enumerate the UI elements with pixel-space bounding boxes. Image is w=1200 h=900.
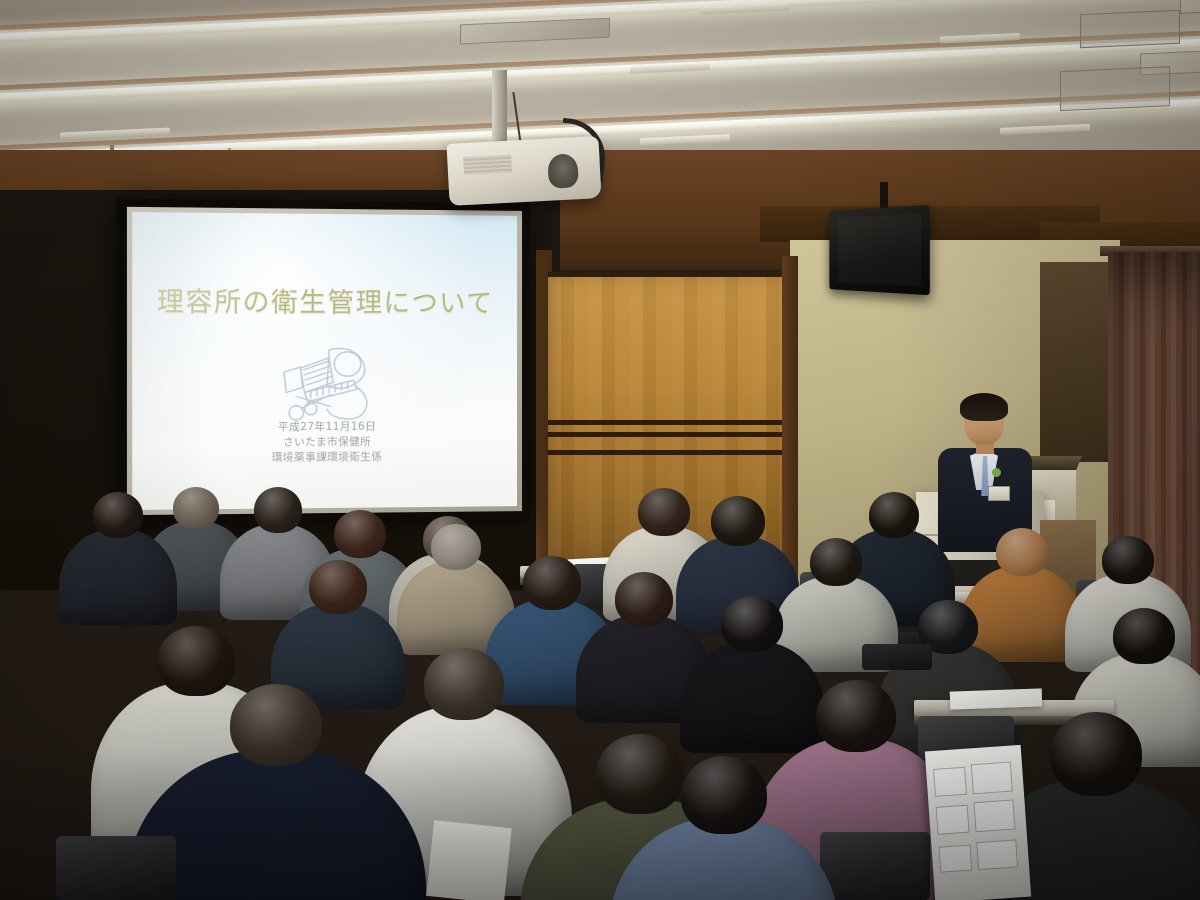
stacking-chair: [56, 836, 176, 900]
attendee-head: [615, 572, 673, 626]
attendee-head: [93, 492, 143, 538]
attendee-torso: [59, 529, 177, 625]
slide-title: 理容所の衛生管理について: [132, 281, 517, 320]
presenter-hair: [960, 393, 1008, 421]
handout-thumbnail: [973, 799, 1015, 832]
name-badge: [988, 486, 1010, 501]
projector-lens: [547, 153, 579, 189]
shoulder-bag: [862, 644, 932, 670]
ceiling-vent: [460, 18, 610, 45]
printed-handout: [950, 688, 1043, 709]
fluorescent-strip-light: [0, 36, 1200, 105]
attendee-head: [173, 487, 219, 529]
attendee-head: [1113, 608, 1175, 664]
attendee-head: [230, 684, 322, 766]
hairdryer-comb-scissors-icon: [265, 337, 388, 429]
projector-vent: [463, 155, 512, 175]
printed-handout-held: [925, 745, 1031, 900]
attendee-head: [711, 496, 765, 546]
attendee-head: [721, 596, 783, 652]
ceiling-loudspeaker: [829, 205, 929, 295]
attendee-head: [810, 538, 862, 586]
handout-thumbnail: [933, 767, 967, 797]
photo-scene: 理容所の衛生管理について: [0, 0, 1200, 900]
projector-mount: [492, 70, 507, 142]
handout-thumbnail: [976, 839, 1018, 870]
handout-thumbnail: [938, 845, 972, 873]
attendee-head: [869, 492, 919, 538]
lapel-pin-icon: [992, 468, 1001, 477]
attendee-dark-hair-left: [59, 492, 177, 634]
attendee-head: [254, 487, 302, 533]
attendee-blue-check-shirt: [609, 756, 839, 900]
attendee-head: [681, 756, 767, 834]
ceiling-access-panel: [1060, 66, 1170, 111]
attendee-head: [816, 680, 896, 752]
handout-thumbnail: [971, 762, 1013, 795]
attendee-head: [523, 556, 581, 610]
attendee-head: [1050, 712, 1142, 796]
ceiling-projector: [446, 136, 601, 206]
ceiling-diffuser: [640, 134, 730, 145]
attendee-head: [334, 510, 386, 558]
slide-subtitle-line-3: 環境薬事課環境衛生係: [132, 449, 517, 467]
attendee-head: [996, 528, 1048, 576]
slide-subtitle: 平成27年11月16日 さいたま市保健所 環境薬事課環境衛生係: [132, 419, 517, 467]
projection-screen-frame: 理容所の衛生管理について: [127, 207, 522, 515]
printed-handout-held: [426, 820, 512, 900]
attendee-head: [431, 524, 481, 570]
projection-screen: 理容所の衛生管理について: [132, 212, 517, 510]
attendee-head: [424, 648, 504, 720]
ceiling-vent: [1180, 0, 1200, 14]
attendee-head: [1102, 536, 1154, 584]
handout-thumbnail: [936, 805, 970, 835]
attendee-head: [309, 560, 367, 614]
ceiling-diffuser: [1000, 124, 1090, 135]
projection-screen-surround: 理容所の衛生管理について: [116, 198, 530, 525]
ceiling-access-panel: [1080, 10, 1180, 49]
